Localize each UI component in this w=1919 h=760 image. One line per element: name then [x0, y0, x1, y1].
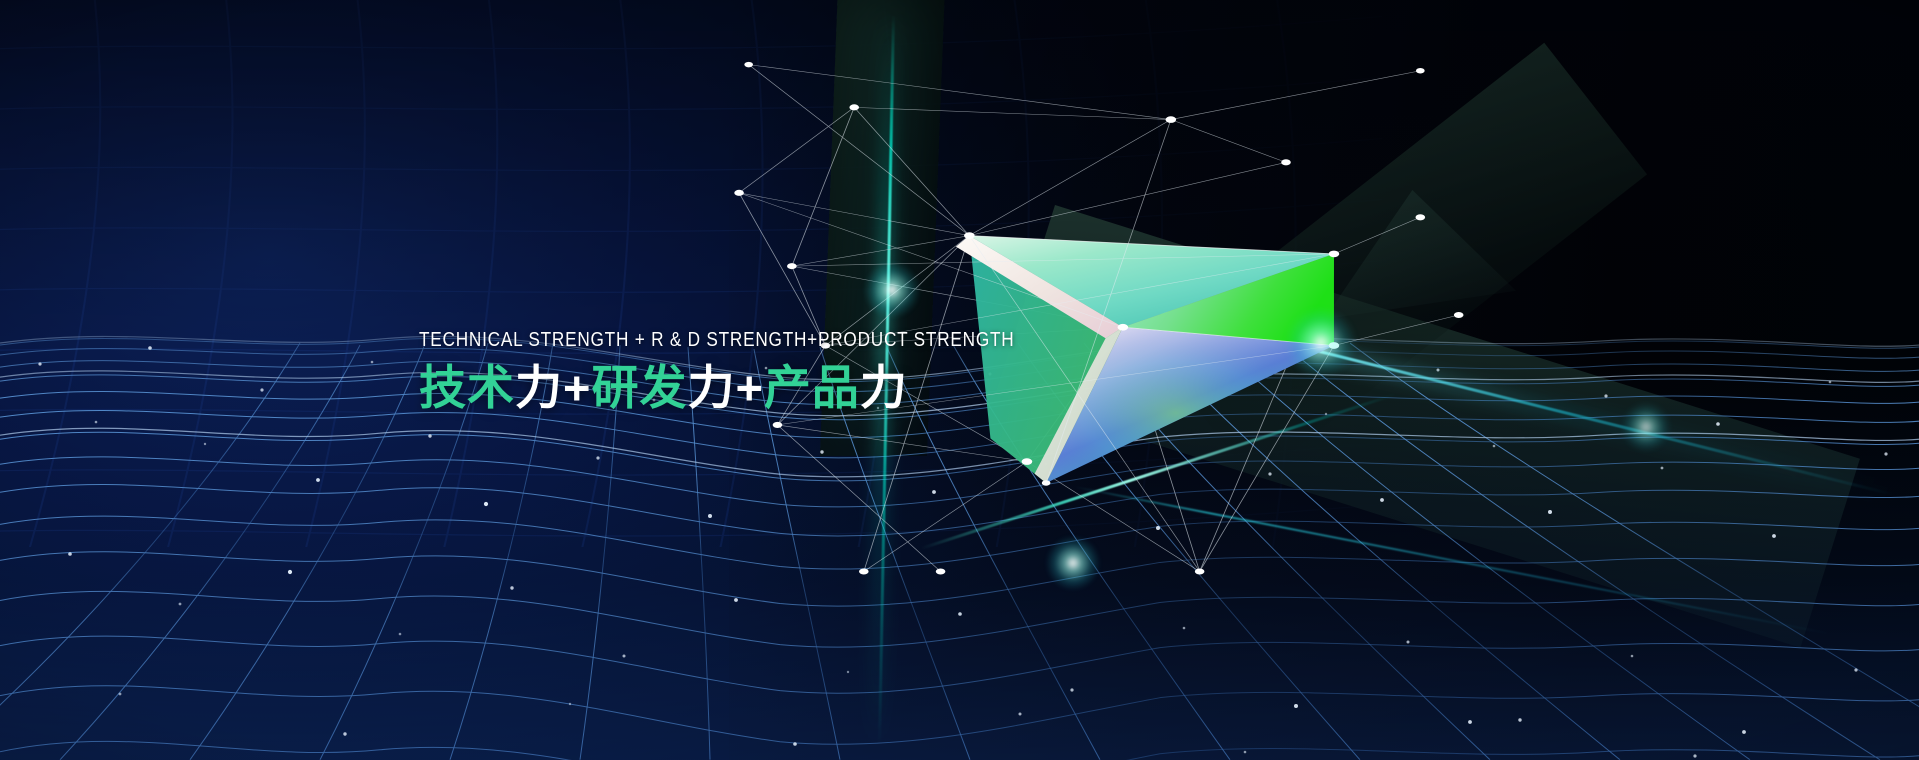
- headline-segment-6: +: [735, 361, 763, 414]
- hero-headline: 技术力+研发力+产品力: [419, 363, 1111, 412]
- hero-banner: TECHNICAL STRENGTH + R & D STRENGTH+PROD…: [0, 0, 1919, 760]
- hero-text-block: TECHNICAL STRENGTH + R & D STRENGTH+PROD…: [419, 330, 1111, 412]
- headline-segment-4: 研发: [591, 361, 687, 414]
- headline-segment-7: 产品: [764, 361, 860, 414]
- 3d-arrow-prism: [883, 144, 1324, 486]
- headline-segment-1: 技术: [419, 361, 515, 414]
- headline-segment-8: 力: [860, 361, 908, 414]
- hero-eyebrow: TECHNICAL STRENGTH + R & D STRENGTH+PROD…: [419, 330, 1014, 350]
- headline-segment-2: 力: [515, 361, 563, 414]
- headline-segment-3: +: [563, 361, 591, 414]
- headline-segment-5: 力: [687, 361, 735, 414]
